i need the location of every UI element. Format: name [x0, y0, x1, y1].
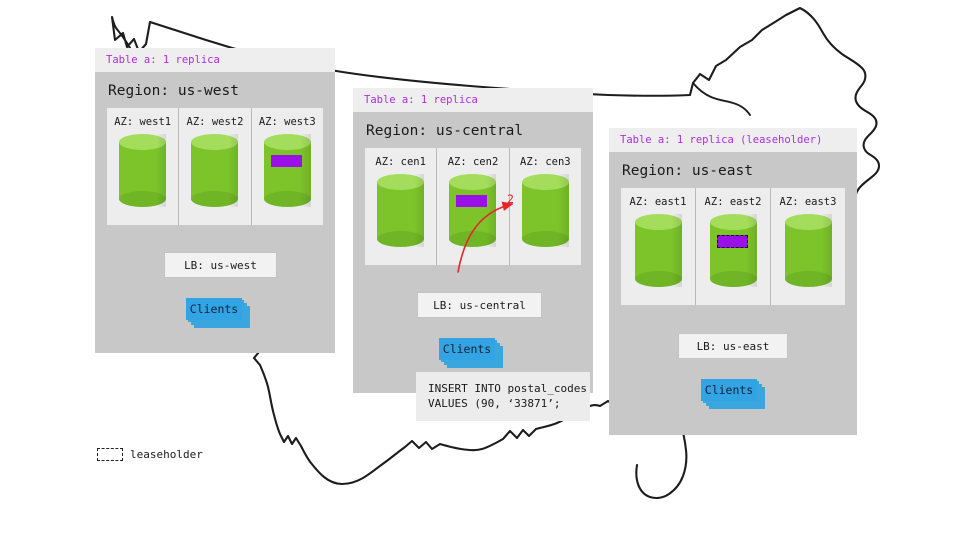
az-cell-west2[interactable]: AZ: west2	[178, 108, 250, 225]
cylinder-icon	[635, 214, 682, 287]
replica-marker	[271, 155, 302, 167]
region-title-us-west: Region: us-west	[95, 72, 335, 108]
clients-button-us-central[interactable]: Clients	[439, 338, 503, 368]
load-balancer-us-west[interactable]: LB: us-west	[164, 252, 277, 278]
region-title-us-east: Region: us-east	[609, 152, 857, 188]
cylinder-icon	[264, 134, 311, 207]
node-cylinder-cen3[interactable]	[522, 174, 569, 247]
diagram-canvas: Table a: 1 replica Region: us-west AZ: w…	[0, 0, 960, 540]
node-cylinder-west1[interactable]	[119, 134, 166, 207]
clients-button-us-west[interactable]: Clients	[186, 298, 250, 328]
az-cell-west1[interactable]: AZ: west1	[107, 108, 178, 225]
node-cylinder-east1[interactable]	[635, 214, 682, 287]
region-body-us-west: Region: us-west AZ: west1 AZ: west2	[95, 72, 335, 353]
az-label-cen1: AZ: cen1	[365, 156, 436, 168]
az-cell-cen1[interactable]: AZ: cen1	[365, 148, 436, 265]
cylinder-icon	[522, 174, 569, 247]
legend-label: leaseholder	[130, 448, 203, 461]
clients-button-label[interactable]: Clients	[439, 338, 495, 360]
az-label-west3: AZ: west3	[252, 116, 323, 128]
az-label-east3: AZ: east3	[771, 196, 845, 208]
cylinder-shade	[228, 134, 238, 207]
az-cell-east2[interactable]: AZ: east2	[695, 188, 770, 305]
node-cylinder-west2[interactable]	[191, 134, 238, 207]
az-label-west2: AZ: west2	[179, 116, 250, 128]
cylinder-shade	[156, 134, 166, 207]
node-cylinder-east2[interactable]	[710, 214, 757, 287]
replica-marker-leaseholder	[717, 235, 748, 248]
cylinder-shade	[486, 174, 496, 247]
cylinder-icon	[377, 174, 424, 247]
az-label-cen2: AZ: cen2	[437, 156, 508, 168]
cylinder-shade	[671, 214, 681, 287]
az-label-west1: AZ: west1	[107, 116, 178, 128]
cylinder-icon	[119, 134, 166, 207]
az-strip-us-west: AZ: west1 AZ: west2	[107, 108, 323, 225]
region-title-us-central: Region: us-central	[353, 112, 593, 148]
az-strip-us-east: AZ: east1 AZ: east2	[621, 188, 845, 305]
legend-leaseholder: leaseholder	[97, 448, 203, 461]
az-cell-east3[interactable]: AZ: east3	[770, 188, 845, 305]
az-label-east2: AZ: east2	[696, 196, 770, 208]
cylinder-icon	[449, 174, 496, 247]
az-cell-cen3[interactable]: AZ: cen3	[509, 148, 581, 265]
az-strip-us-central: AZ: cen1 AZ: cen2	[365, 148, 581, 265]
node-cylinder-cen2[interactable]	[449, 174, 496, 247]
node-cylinder-west3[interactable]	[264, 134, 311, 207]
dashed-rect-icon	[97, 448, 123, 461]
region-banner-us-west: Table a: 1 replica	[95, 48, 335, 72]
region-panel-us-east: Table a: 1 replica (leaseholder) Region:…	[609, 128, 857, 435]
region-body-us-east: Region: us-east AZ: east1 AZ: east2	[609, 152, 857, 435]
clients-button-us-east[interactable]: Clients	[701, 379, 765, 409]
az-cell-east1[interactable]: AZ: east1	[621, 188, 695, 305]
node-cylinder-east3[interactable]	[785, 214, 832, 287]
clients-button-label[interactable]: Clients	[701, 379, 757, 401]
region-panel-us-west: Table a: 1 replica Region: us-west AZ: w…	[95, 48, 335, 353]
load-balancer-us-east[interactable]: LB: us-east	[678, 333, 788, 359]
region-panel-us-central: Table a: 1 replica Region: us-central AZ…	[353, 88, 593, 393]
node-cylinder-cen1[interactable]	[377, 174, 424, 247]
replica-marker	[456, 195, 487, 207]
clients-button-label[interactable]: Clients	[186, 298, 242, 320]
cylinder-icon	[710, 214, 757, 287]
az-cell-cen2[interactable]: AZ: cen2	[436, 148, 508, 265]
az-label-cen3: AZ: cen3	[510, 156, 581, 168]
cylinder-shade	[746, 214, 756, 287]
az-label-east1: AZ: east1	[621, 196, 695, 208]
cylinder-shade	[821, 214, 831, 287]
us-map-great-lakes-detail	[693, 83, 750, 115]
cylinder-icon	[785, 214, 832, 287]
cylinder-shade	[300, 134, 310, 207]
cylinder-shade	[558, 174, 568, 247]
cylinder-icon	[191, 134, 238, 207]
sql-statement-block: INSERT INTO postal_codes VALUES (90, ‘33…	[416, 372, 590, 421]
annotation-number-2: 2	[507, 192, 514, 206]
cylinder-shade	[414, 174, 424, 247]
region-body-us-central: Region: us-central AZ: cen1 AZ: cen2	[353, 112, 593, 393]
region-banner-us-east: Table a: 1 replica (leaseholder)	[609, 128, 857, 152]
az-cell-west3[interactable]: AZ: west3	[251, 108, 323, 225]
load-balancer-us-central[interactable]: LB: us-central	[417, 292, 542, 318]
region-banner-us-central: Table a: 1 replica	[353, 88, 593, 112]
